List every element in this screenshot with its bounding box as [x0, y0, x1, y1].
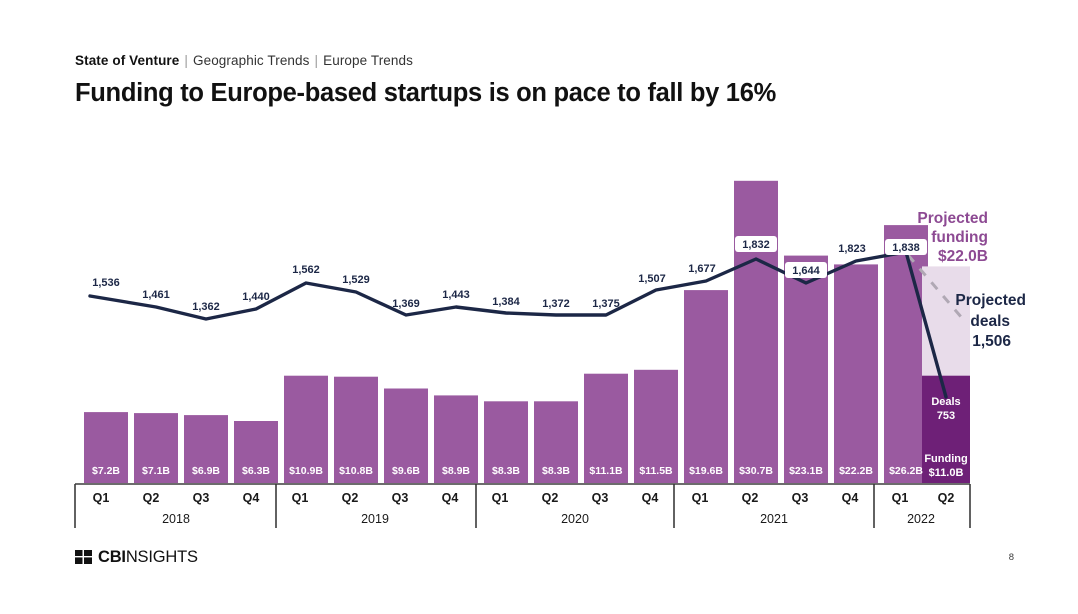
- line-label-plate-2021-q3: 1,644: [785, 262, 827, 278]
- bar-label-2019-q3: $9.6B: [392, 465, 420, 477]
- projected-deals-line2: deals: [970, 313, 1010, 330]
- line-label-2019-q1: 1,562: [292, 264, 320, 276]
- line-label-2020-q2: 1,372: [542, 298, 570, 310]
- line-label-2020-q3: 1,375: [592, 298, 620, 310]
- line-label-2019-q3: 1,369: [392, 298, 420, 310]
- axis-quarter-labels: Q1 Q2 Q3 Q4 Q1 Q2 Q3 Q4 Q1 Q2 Q3 Q4 Q1 Q…: [93, 491, 955, 505]
- axis-quarter-2018-q3: Q3: [193, 491, 210, 505]
- axis-quarter-2019-q3: Q3: [392, 491, 409, 505]
- projected-funding-line2: funding: [931, 229, 988, 246]
- line-label-plate-2021-q2: 1,832: [735, 236, 777, 252]
- bar-label-2018-q3: $6.9B: [192, 465, 220, 477]
- bar-label-2022-q1: $26.2B: [889, 465, 923, 477]
- axis-quarter-2018-q1: Q1: [93, 491, 110, 505]
- slide: State of Venture|Geographic Trends|Europ…: [0, 0, 1078, 614]
- projected-deals-line3: 1,506: [972, 333, 1011, 350]
- axis-year-2019: 2019: [361, 512, 389, 526]
- axis-quarter-2019-q4: Q4: [442, 491, 459, 505]
- axis-year-2018: 2018: [162, 512, 190, 526]
- page-number: 8: [1009, 552, 1014, 563]
- combo-chart: $7.2B $7.1B $6.9B $6.3B $10.9B $10.8B $9…: [0, 0, 1078, 614]
- line-label-2021-q2: 1,832: [742, 239, 770, 251]
- axis-quarter-2020-q3: Q3: [592, 491, 609, 505]
- bar-label-2020-q4: $11.5B: [639, 465, 673, 477]
- bar-label-2019-q2: $10.8B: [339, 465, 373, 477]
- axis-quarter-2018-q2: Q2: [143, 491, 160, 505]
- bar-label-2021-q2: $30.7B: [739, 465, 773, 477]
- axis-year-2021: 2021: [760, 512, 788, 526]
- brand-logo-bold: CBI: [98, 548, 126, 566]
- projected-funding-line3: $22.0B: [938, 248, 988, 265]
- line-label-2021-q3: 1,644: [792, 265, 820, 277]
- bar-label-2018-q2: $7.1B: [142, 465, 170, 477]
- bar-2022-q1: [884, 225, 928, 483]
- line-label-2020-q1: 1,384: [492, 296, 520, 308]
- bar-label-2019-q4: $8.9B: [442, 465, 470, 477]
- axis-quarter-2020-q1: Q1: [492, 491, 509, 505]
- line-label-2018-q3: 1,362: [192, 301, 220, 313]
- bar-2021-q1: [684, 290, 728, 483]
- bar-label-2020-q1: $8.3B: [492, 465, 520, 477]
- bar-label-2020-q2: $8.3B: [542, 465, 570, 477]
- line-label-2018-q2: 1,461: [142, 289, 170, 301]
- axis-year-2022: 2022: [907, 512, 935, 526]
- bar-2021-q2: [734, 181, 778, 483]
- bar-label-2021-q4: $22.2B: [839, 465, 873, 477]
- bar-label-2018-q1: $7.2B: [92, 465, 120, 477]
- bar-label-2021-q1: $19.6B: [689, 465, 723, 477]
- brand-logo: CBINSIGHTS: [75, 549, 198, 566]
- axis-table: Q1 Q2 Q3 Q4 Q1 Q2 Q3 Q4 Q1 Q2 Q3 Q4 Q1 Q…: [75, 484, 970, 528]
- stack-funding-label: Funding: [924, 453, 967, 465]
- axis-quarter-2021-q3: Q3: [792, 491, 809, 505]
- bar-series: [84, 181, 970, 483]
- axis-quarter-2020-q4: Q4: [642, 491, 659, 505]
- line-label-2021-q4: 1,823: [838, 243, 866, 255]
- line-label-2020-q4: 1,507: [638, 273, 666, 285]
- bar-label-2021-q3: $23.1B: [789, 465, 823, 477]
- axis-quarter-2018-q4: Q4: [243, 491, 260, 505]
- bar-label-2020-q3: $11.1B: [589, 465, 623, 477]
- line-label-2018-q1: 1,536: [92, 277, 120, 289]
- stack-deals-value: 753: [937, 410, 955, 422]
- line-label-2022-q1: 1,838: [892, 242, 920, 254]
- bar-2021-q3: [784, 256, 828, 483]
- line-label-2019-q4: 1,443: [442, 289, 470, 301]
- brand-logo-text: CBINSIGHTS: [98, 549, 198, 566]
- axis-quarter-2021-q1: Q1: [692, 491, 709, 505]
- axis-quarter-2019-q2: Q2: [342, 491, 359, 505]
- bar-label-2018-q4: $6.3B: [242, 465, 270, 477]
- stack-funding-value: $11.0B: [929, 467, 964, 479]
- line-label-plate-2022-q1: 1,838: [885, 239, 927, 255]
- line-label-2019-q2: 1,529: [342, 274, 370, 286]
- axis-quarter-2021-q4: Q4: [842, 491, 859, 505]
- axis-year-labels: 2018 2019 2020 2021 2022: [162, 512, 935, 526]
- axis-quarter-2020-q2: Q2: [542, 491, 559, 505]
- axis-quarter-2021-q2: Q2: [742, 491, 759, 505]
- bar-value-labels: $7.2B $7.1B $6.9B $6.3B $10.9B $10.8B $9…: [92, 465, 923, 477]
- bar-label-2019-q1: $10.9B: [289, 465, 323, 477]
- axis-quarter-2022-q1: Q1: [892, 491, 909, 505]
- axis-quarter-2019-q1: Q1: [292, 491, 309, 505]
- cb-insights-square-icon: [75, 550, 92, 564]
- projected-funding-line1: Projected: [917, 210, 988, 227]
- axis-year-2020: 2020: [561, 512, 589, 526]
- bar-2021-q4: [834, 264, 878, 483]
- axis-quarter-2022-q2: Q2: [938, 491, 955, 505]
- projected-deals-line1: Projected: [955, 292, 1026, 309]
- line-label-2018-q4: 1,440: [242, 291, 270, 303]
- chart-container: $7.2B $7.1B $6.9B $6.3B $10.9B $10.8B $9…: [0, 0, 1078, 614]
- brand-logo-regular: NSIGHTS: [126, 548, 198, 566]
- line-label-2021-q1: 1,677: [688, 263, 716, 275]
- bar-2022-q2-projected: [922, 266, 970, 383]
